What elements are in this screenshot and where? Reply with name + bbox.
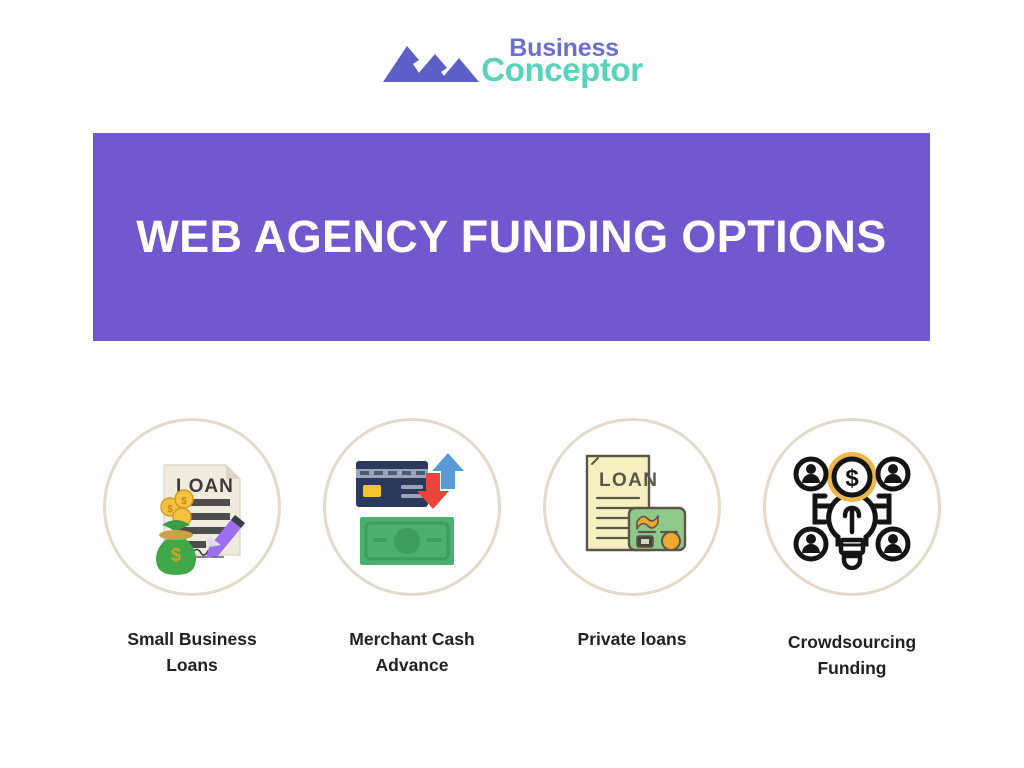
funding-option-card[interactable]: LOAN $ $ (82, 418, 302, 682)
funding-option-card[interactable]: Merchant Cash Advance (302, 418, 522, 682)
svg-text:LOAN: LOAN (599, 470, 658, 491)
funding-options-row: LOAN $ $ (82, 418, 962, 682)
caption-line-1: Crowdsourcing (788, 632, 916, 652)
mountain-icon (381, 36, 483, 86)
card-caption: Small Business Loans (127, 626, 256, 679)
caption-line-2: Loans (166, 655, 218, 675)
caption-line-1: Private loans (578, 629, 687, 649)
page-title: WEB AGENCY FUNDING OPTIONS (136, 211, 886, 263)
card-caption: Merchant Cash Advance (349, 626, 474, 679)
loan-document-card-icon: LOAN (567, 442, 697, 572)
funding-option-card[interactable]: $ (742, 418, 962, 682)
title-banner: WEB AGENCY FUNDING OPTIONS (93, 133, 930, 341)
svg-text:$: $ (171, 545, 181, 565)
funding-option-card[interactable]: LOAN (522, 418, 742, 682)
svg-text:$: $ (845, 465, 859, 492)
icon-circle: $ (763, 418, 941, 596)
brand-logo: Business Conceptor (0, 36, 1024, 86)
card-caption: Private loans (578, 626, 687, 652)
icon-circle: LOAN (543, 418, 721, 596)
card-caption: Crowdsourcing Funding (788, 629, 916, 682)
svg-text:$: $ (181, 496, 187, 507)
svg-text:$: $ (167, 504, 173, 515)
logo-wordmark: Business Conceptor (481, 37, 642, 85)
caption-line-1: Merchant Cash (349, 629, 474, 649)
icon-circle: LOAN $ $ (103, 418, 281, 596)
icon-circle (323, 418, 501, 596)
loan-document-money-bag-icon: LOAN $ $ (122, 437, 262, 577)
crowdsourcing-lightbulb-people-icon: $ (789, 444, 915, 570)
caption-line-2: Funding (817, 658, 886, 678)
logo-word-conceptor: Conceptor (481, 55, 642, 85)
credit-card-cash-exchange-icon (346, 441, 478, 573)
logo-lockup: Business Conceptor (381, 36, 642, 86)
caption-line-1: Small Business (127, 629, 256, 649)
caption-line-2: Advance (376, 655, 449, 675)
